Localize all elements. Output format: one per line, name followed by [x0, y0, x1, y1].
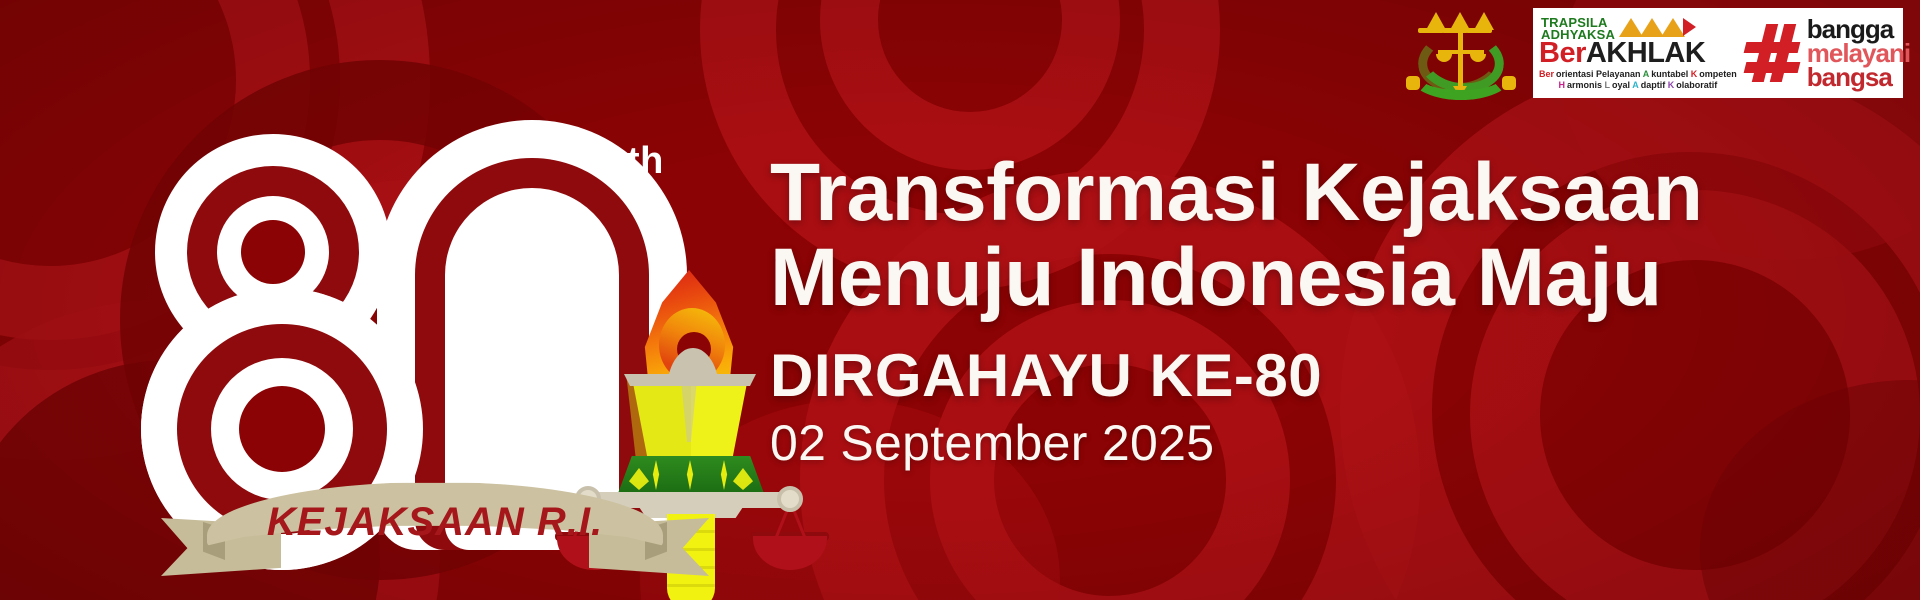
page-title: Transformasi Kejaksaan Menuju Indonesia … — [770, 150, 1830, 321]
value-rest-daptif: daptif — [1641, 80, 1666, 90]
green-band — [1412, 78, 1510, 100]
value-initial-k: K — [1691, 69, 1698, 79]
hashtag-icon — [1743, 22, 1801, 84]
band-cap — [1502, 76, 1516, 90]
berakhlak-values-line-2: Harmonis Loyal Adaptif Kolaboratif — [1539, 80, 1737, 90]
value-initial-ad: A — [1632, 80, 1639, 90]
ribbon-label: KEJAKSAAN R.I. — [207, 492, 663, 552]
anniversary-80-logo: KEJAKSAAN R.I. — [155, 120, 715, 560]
value-rest-armonis: armonis — [1567, 80, 1602, 90]
bangga-melayani-bangsa-logo: bangga melayani bangsa — [1807, 16, 1910, 90]
subtitle: DIRGAHAYU KE-80 — [770, 341, 1830, 410]
value-rest-kuntabel: kuntabel — [1651, 69, 1688, 79]
berakhlak-suffix: AKHLAK — [1586, 37, 1705, 69]
ordinal-suffix: th — [627, 140, 664, 183]
chevron-up-icon — [1661, 18, 1685, 37]
ribbon-label-text: KEJAKSAAN R.I. — [267, 500, 603, 545]
copy-block: Transformasi Kejaksaan Menuju Indonesia … — [770, 150, 1830, 472]
berakhlak-prefix: Ber — [1539, 37, 1586, 69]
ribbon-banner: KEJAKSAAN R.I. — [155, 460, 715, 590]
eight-top-hole — [241, 220, 305, 284]
value-initial-h: H — [1559, 80, 1566, 90]
value-rest-oyal: oyal — [1612, 80, 1630, 90]
chevron-group — [1619, 18, 1696, 37]
headline-line-1: Transformasi Kejaksaan — [770, 147, 1702, 238]
value-initial-a: A — [1643, 69, 1650, 79]
scale-knob-right — [777, 486, 803, 512]
value-rest-orientasi: orientasi Pelayanan — [1556, 69, 1641, 79]
berakhlak-logo: TRAPSILA ADHYAKSA BerAKHLAK Berorientasi… — [1539, 17, 1737, 90]
value-initial-l: L — [1605, 80, 1611, 90]
event-date: 02 September 2025 — [770, 414, 1830, 472]
partner-logo-card: TRAPSILA ADHYAKSA BerAKHLAK Berorientasi… — [1533, 8, 1903, 98]
band-cap — [1406, 76, 1420, 90]
berakhlak-wordmark: BerAKHLAK — [1539, 39, 1737, 68]
kejaksaan-ri-emblem — [1396, 2, 1524, 102]
torch-cup-shade — [621, 378, 691, 464]
berakhlak-values-line-1: Berorientasi Pelayanan Akuntabel Kompete… — [1539, 69, 1737, 79]
value-rest-olaboratif: olaboratif — [1676, 80, 1717, 90]
value-rest-ompeten: ompeten — [1699, 69, 1737, 79]
anniversary-banner: KEJAKSAAN R.I. th Transformasi Kejaksaan… — [0, 0, 1920, 600]
headline-line-2: Menuju Indonesia Maju — [770, 235, 1830, 320]
chevron-right-icon — [1683, 18, 1696, 36]
value-initial-ko: K — [1668, 80, 1675, 90]
value-initial-ber: Ber — [1539, 69, 1554, 79]
